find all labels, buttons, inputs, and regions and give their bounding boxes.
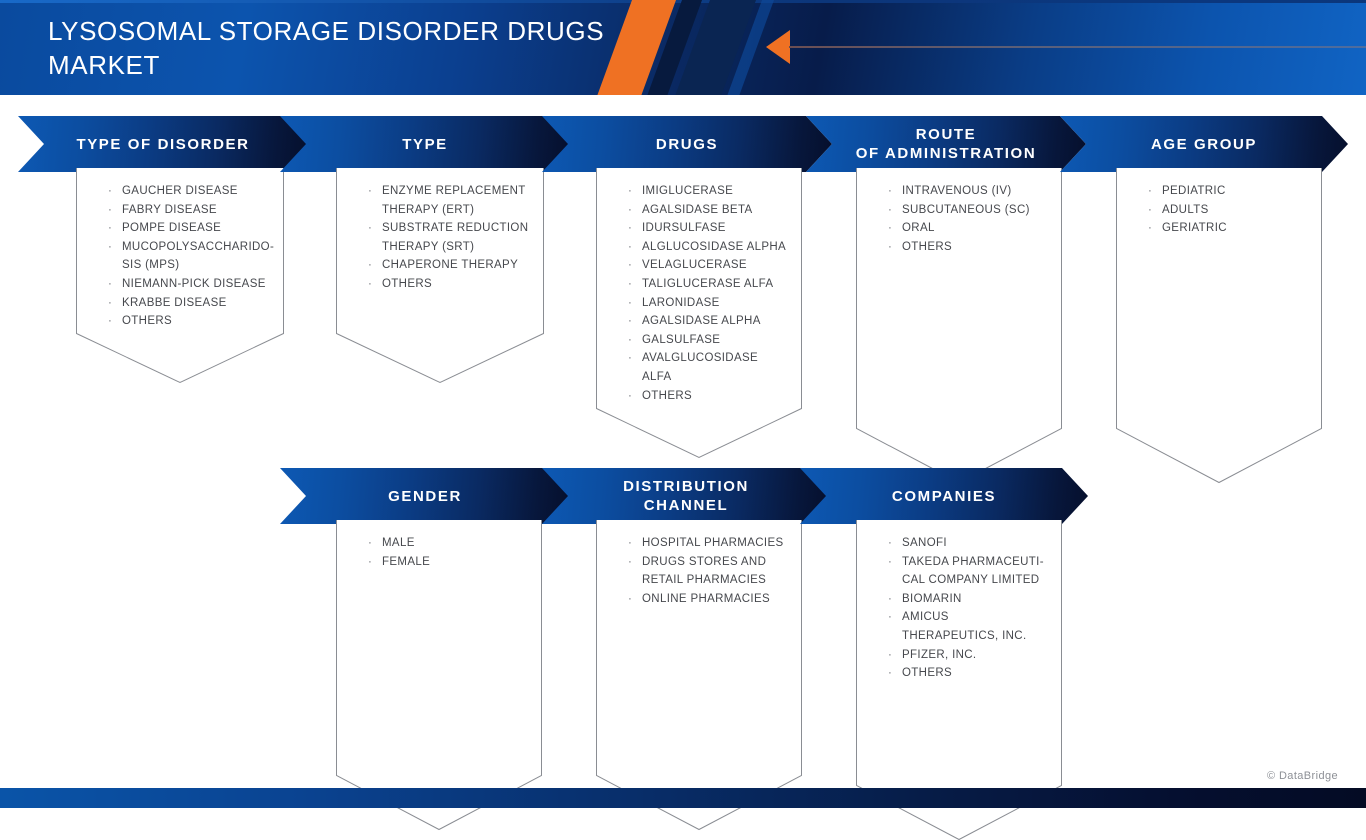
- segment-title: DISTRIBUTION CHANNEL: [605, 477, 767, 515]
- list-item: ·SANOFI: [856, 534, 1062, 553]
- list-item: ·AMICUS THERAPEUTICS, INC.: [856, 608, 1062, 645]
- segment-card-age-group: ·PEDIATRIC ·ADULTS ·GERIATRIC: [1116, 168, 1322, 483]
- list-item: ·AGALSIDASE BETA: [596, 201, 802, 220]
- bullet-icon: ·: [368, 219, 372, 238]
- segment-card-gender: ·MALE ·FEMALE: [336, 520, 542, 830]
- list-item: ·NIEMANN-PICK DISEASE: [76, 275, 284, 294]
- bullet-icon: ·: [368, 534, 372, 553]
- list-item: ·IMIGLUCERASE: [596, 182, 802, 201]
- segment-card-route-of-administration: ·INTRAVENOUS (IV) ·SUBCUTANEOUS (SC) ·OR…: [856, 168, 1062, 483]
- segment-title: AGE GROUP: [1133, 135, 1275, 154]
- list-item: ·TALIGLUCERASE ALFA: [596, 275, 802, 294]
- list-item-label: IDURSULFASE: [642, 222, 726, 234]
- list-item: ·KRABBE DISEASE: [76, 294, 284, 313]
- segment-card-distribution-channel: ·HOSPITAL PHARMACIES ·DRUGS STORES AND R…: [596, 520, 802, 830]
- list-item-label: PFIZER, INC.: [902, 649, 976, 661]
- list-item: ·IDURSULFASE: [596, 219, 802, 238]
- bullet-icon: ·: [628, 534, 632, 553]
- bullet-icon: ·: [888, 590, 892, 609]
- bullet-icon: ·: [628, 275, 632, 294]
- list-item-label: FEMALE: [382, 556, 430, 568]
- bullet-icon: ·: [628, 331, 632, 350]
- segment-title-line2: OF ADMINISTRATION: [856, 145, 1037, 162]
- list-item: ·INTRAVENOUS (IV): [856, 182, 1062, 201]
- segment-item-list: ·ENZYME REPLACEMENT THERAPY (ERT) ·SUBST…: [336, 182, 544, 294]
- list-item: ·ALGLUCOSIDASE ALPHA: [596, 238, 802, 257]
- segment-title-line1: DISTRIBUTION: [623, 478, 749, 495]
- bullet-icon: ·: [628, 312, 632, 331]
- list-item: ·TAKEDA PHARMACEUTI-CAL COMPANY LIMITED: [856, 553, 1062, 590]
- list-item-label: OTHERS: [902, 241, 952, 253]
- list-item: ·MUCOPOLYSACCHARIDO-SIS (MPS): [76, 238, 284, 275]
- bullet-icon: ·: [888, 182, 892, 201]
- segment-title: COMPANIES: [874, 487, 1014, 506]
- bullet-icon: ·: [368, 275, 372, 294]
- list-item-label: MALE: [382, 537, 415, 549]
- list-item: ·SUBSTRATE REDUCTION THERAPY (SRT): [336, 219, 544, 256]
- bullet-icon: ·: [368, 553, 372, 572]
- bullet-icon: ·: [888, 553, 892, 572]
- segment-card-drugs: ·IMIGLUCERASE ·AGALSIDASE BETA ·IDURSULF…: [596, 168, 802, 458]
- list-item: ·OTHERS: [596, 387, 802, 406]
- bullet-icon: ·: [368, 256, 372, 275]
- list-item-label: VELAGLUCERASE: [642, 259, 747, 271]
- bullet-icon: ·: [888, 238, 892, 257]
- list-item-label: CHAPERONE THERAPY: [382, 259, 518, 271]
- list-item-label: PEDIATRIC: [1162, 185, 1226, 197]
- list-item-label: GALSULFASE: [642, 334, 720, 346]
- list-item-label: SANOFI: [902, 537, 947, 549]
- segment-card-type-of-disorder: ·GAUCHER DISEASE ·FABRY DISEASE ·POMPE D…: [76, 168, 284, 383]
- bullet-icon: ·: [108, 182, 112, 201]
- list-item-label: LARONIDASE: [642, 297, 720, 309]
- list-item-label: TAKEDA PHARMACEUTI-CAL COMPANY LIMITED: [902, 556, 1044, 587]
- list-item: ·ADULTS: [1116, 201, 1322, 220]
- segment-item-list: ·HOSPITAL PHARMACIES ·DRUGS STORES AND R…: [596, 534, 802, 608]
- segment-header-type-of-disorder[interactable]: TYPE OF DISORDER: [18, 116, 308, 172]
- list-item-label: OTHERS: [642, 390, 692, 402]
- bullet-icon: ·: [888, 534, 892, 553]
- list-item: ·GERIATRIC: [1116, 219, 1322, 238]
- footer-bar: [0, 788, 1366, 808]
- list-item-label: AGALSIDASE ALPHA: [642, 315, 761, 327]
- list-item: ·BIOMARIN: [856, 590, 1062, 609]
- list-item-label: TALIGLUCERASE ALFA: [642, 278, 773, 290]
- bullet-icon: ·: [888, 608, 892, 627]
- segment-title-line2: CHANNEL: [644, 497, 729, 514]
- list-item-label: AGALSIDASE BETA: [642, 204, 753, 216]
- list-item-label: INTRAVENOUS (IV): [902, 185, 1012, 197]
- list-item-label: HOSPITAL PHARMACIES: [642, 537, 783, 549]
- list-item-label: SUBCUTANEOUS (SC): [902, 204, 1030, 216]
- list-item: ·OTHERS: [76, 312, 284, 331]
- list-item: ·HOSPITAL PHARMACIES: [596, 534, 802, 553]
- bullet-icon: ·: [628, 219, 632, 238]
- list-item-label: POMPE DISEASE: [122, 222, 221, 234]
- bullet-icon: ·: [888, 664, 892, 683]
- page-header: LYSOSOMAL STORAGE DISORDER DRUGS MARKET: [0, 0, 1366, 95]
- list-item: ·OTHERS: [856, 664, 1062, 683]
- bullet-icon: ·: [1148, 201, 1152, 220]
- copyright-credit: © DataBridge: [1267, 770, 1338, 782]
- segment-header-route-of-administration[interactable]: ROUTE OF ADMINISTRATION: [806, 116, 1086, 172]
- list-item: ·LARONIDASE: [596, 294, 802, 313]
- segment-title: ROUTE OF ADMINISTRATION: [838, 125, 1055, 163]
- segment-item-list: ·INTRAVENOUS (IV) ·SUBCUTANEOUS (SC) ·OR…: [856, 182, 1062, 256]
- list-item: ·FABRY DISEASE: [76, 201, 284, 220]
- segment-item-list: ·SANOFI ·TAKEDA PHARMACEUTI-CAL COMPANY …: [856, 534, 1062, 683]
- list-item-label: GAUCHER DISEASE: [122, 185, 238, 197]
- list-item-label: OTHERS: [382, 278, 432, 290]
- bullet-icon: ·: [628, 387, 632, 406]
- segment-header-type[interactable]: TYPE: [280, 116, 570, 172]
- bullet-icon: ·: [628, 182, 632, 201]
- bullet-icon: ·: [368, 182, 372, 201]
- segment-header-distribution-channel[interactable]: DISTRIBUTION CHANNEL: [542, 468, 830, 524]
- list-item-label: OTHERS: [122, 315, 172, 327]
- list-item-label: ENZYME REPLACEMENT THERAPY (ERT): [382, 185, 525, 216]
- list-item: ·OTHERS: [856, 238, 1062, 257]
- list-item: ·PEDIATRIC: [1116, 182, 1322, 201]
- segment-header-gender[interactable]: GENDER: [280, 468, 570, 524]
- left-arrow-icon: [766, 30, 790, 64]
- segment-title: DRUGS: [638, 135, 736, 154]
- list-item: ·GALSULFASE: [596, 331, 802, 350]
- bullet-icon: ·: [888, 219, 892, 238]
- segment-item-list: ·MALE ·FEMALE: [336, 534, 542, 571]
- list-item: ·CHAPERONE THERAPY: [336, 256, 544, 275]
- bullet-icon: ·: [628, 553, 632, 572]
- segment-header-drugs[interactable]: DRUGS: [542, 116, 832, 172]
- list-item-label: OTHERS: [902, 667, 952, 679]
- bullet-icon: ·: [628, 294, 632, 313]
- list-item-label: SUBSTRATE REDUCTION THERAPY (SRT): [382, 222, 528, 253]
- list-item-label: ONLINE PHARMACIES: [642, 593, 770, 605]
- bullet-icon: ·: [628, 590, 632, 609]
- segment-item-list: ·PEDIATRIC ·ADULTS ·GERIATRIC: [1116, 182, 1322, 238]
- list-item: ·VELAGLUCERASE: [596, 256, 802, 275]
- bullet-icon: ·: [888, 201, 892, 220]
- bullet-icon: ·: [108, 238, 112, 257]
- list-item-label: DRUGS STORES AND RETAIL PHARMACIES: [642, 556, 766, 587]
- list-item-label: GERIATRIC: [1162, 222, 1227, 234]
- list-item-label: KRABBE DISEASE: [122, 297, 227, 309]
- list-item-label: IMIGLUCERASE: [642, 185, 733, 197]
- segment-header-companies[interactable]: COMPANIES: [800, 468, 1088, 524]
- bullet-icon: ·: [108, 312, 112, 331]
- arrow-line-decoration: [789, 46, 1366, 48]
- list-item-label: ALGLUCOSIDASE ALPHA: [642, 241, 786, 253]
- segment-item-list: ·GAUCHER DISEASE ·FABRY DISEASE ·POMPE D…: [76, 182, 284, 331]
- segment-header-age-group[interactable]: AGE GROUP: [1060, 116, 1348, 172]
- list-item-label: ORAL: [902, 222, 935, 234]
- list-item: ·GAUCHER DISEASE: [76, 182, 284, 201]
- list-item-label: BIOMARIN: [902, 593, 962, 605]
- list-item: ·SUBCUTANEOUS (SC): [856, 201, 1062, 220]
- segment-item-list: ·IMIGLUCERASE ·AGALSIDASE BETA ·IDURSULF…: [596, 182, 802, 405]
- bullet-icon: ·: [108, 219, 112, 238]
- list-item: ·OTHERS: [336, 275, 544, 294]
- list-item: ·ENZYME REPLACEMENT THERAPY (ERT): [336, 182, 544, 219]
- bullet-icon: ·: [628, 238, 632, 257]
- list-item: ·ONLINE PHARMACIES: [596, 590, 802, 609]
- segment-card-type: ·ENZYME REPLACEMENT THERAPY (ERT) ·SUBST…: [336, 168, 544, 383]
- bullet-icon: ·: [1148, 182, 1152, 201]
- bullet-icon: ·: [628, 349, 632, 368]
- list-item-label: FABRY DISEASE: [122, 204, 217, 216]
- list-item: ·ORAL: [856, 219, 1062, 238]
- list-item-label: AVALGLUCOSIDASE ALFA: [642, 352, 758, 383]
- segment-title: TYPE OF DISORDER: [58, 135, 267, 154]
- segment-title-line1: ROUTE: [916, 126, 977, 143]
- bullet-icon: ·: [1148, 219, 1152, 238]
- bullet-icon: ·: [108, 201, 112, 220]
- list-item-label: AMICUS THERAPEUTICS, INC.: [902, 611, 1027, 642]
- bullet-icon: ·: [108, 294, 112, 313]
- segment-title: TYPE: [384, 135, 466, 154]
- infographic-canvas: TYPE OF DISORDER ·GAUCHER DISEASE ·FABRY…: [0, 95, 1366, 808]
- list-item: ·PFIZER, INC.: [856, 646, 1062, 665]
- bullet-icon: ·: [628, 256, 632, 275]
- list-item-label: NIEMANN-PICK DISEASE: [122, 278, 266, 290]
- list-item-label: ADULTS: [1162, 204, 1209, 216]
- bullet-icon: ·: [108, 275, 112, 294]
- page-title: LYSOSOMAL STORAGE DISORDER DRUGS MARKET: [48, 14, 668, 82]
- segment-title: GENDER: [370, 487, 480, 506]
- list-item: ·MALE: [336, 534, 542, 553]
- list-item: ·FEMALE: [336, 553, 542, 572]
- list-item: ·AGALSIDASE ALPHA: [596, 312, 802, 331]
- list-item: ·AVALGLUCOSIDASE ALFA: [596, 349, 802, 386]
- bullet-icon: ·: [628, 201, 632, 220]
- list-item: ·DRUGS STORES AND RETAIL PHARMACIES: [596, 553, 802, 590]
- list-item: ·POMPE DISEASE: [76, 219, 284, 238]
- bullet-icon: ·: [888, 646, 892, 665]
- list-item-label: MUCOPOLYSACCHARIDO-SIS (MPS): [122, 241, 274, 272]
